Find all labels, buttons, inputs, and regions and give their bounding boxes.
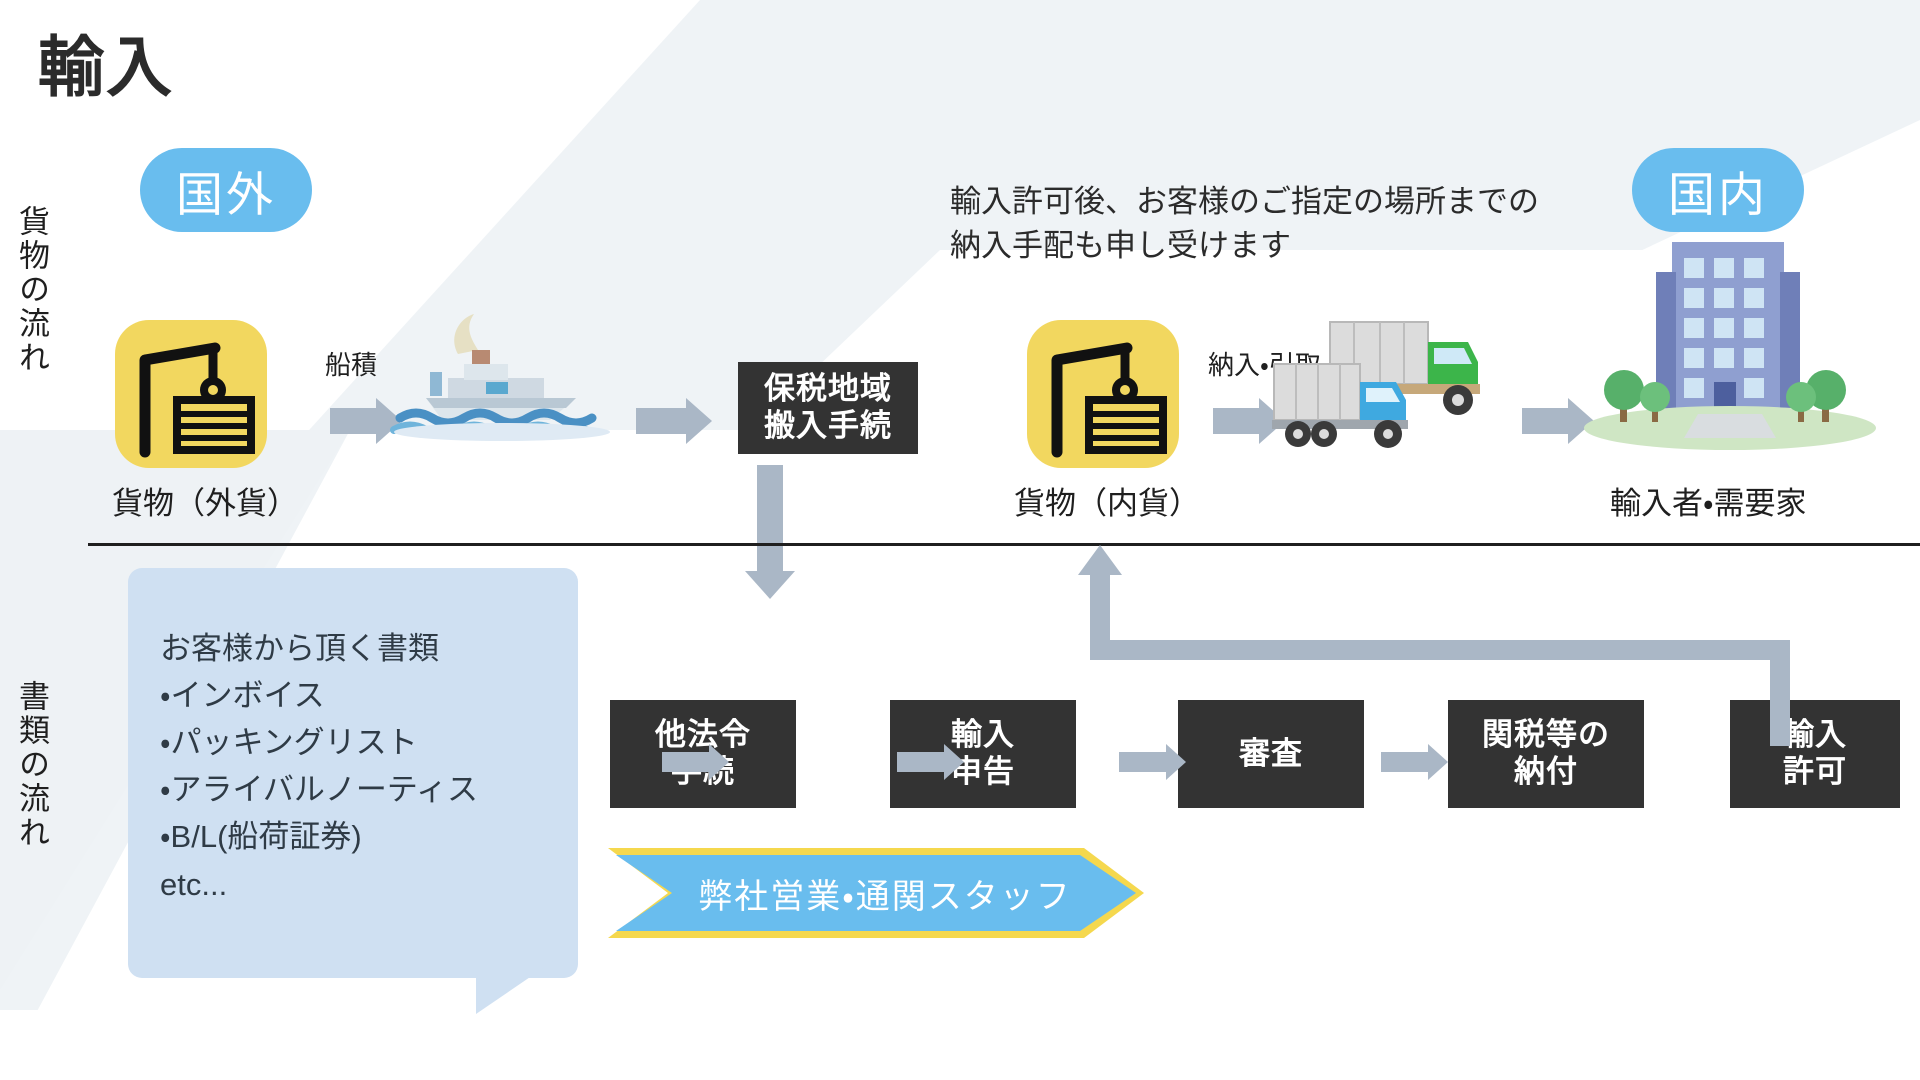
label-shipping: 船積	[325, 345, 377, 382]
lane-label-cargo: 貨物の流れ	[16, 205, 47, 375]
region-badge-foreign: 国外	[140, 148, 312, 232]
delivery-trucks-icon	[1272, 300, 1522, 465]
caption-domestic-cargo: 貨物（内貨）	[1014, 478, 1200, 523]
customer-documents-text: お客様から頂く書類 ・インボイス ・パッキングリスト ・アライバルノーティス ・…	[160, 625, 580, 908]
process-box-duty-payment: 関税等の 納付	[1448, 700, 1644, 808]
region-badge-domestic: 国内	[1632, 148, 1804, 232]
arrow-step-3-to-4	[1119, 752, 1167, 772]
arrow-to-bonded-area	[636, 408, 688, 434]
arrow-step-2-to-3	[897, 752, 945, 772]
arrow-to-ship	[330, 408, 378, 434]
office-building-icon	[1580, 232, 1880, 467]
arrow-bonded-to-documents	[757, 465, 783, 573]
page-title: 輸入	[38, 14, 174, 110]
feedback-arrow-head	[1078, 545, 1122, 575]
staff-banner: 弊社営業・通関スタッフ	[616, 855, 1136, 931]
crane-icon	[1027, 320, 1179, 468]
caption-importer: 輸入者・需要家	[1610, 478, 1807, 523]
cargo-ship-icon	[390, 292, 620, 447]
lane-divider	[88, 543, 1920, 546]
arrow-step-4-to-5	[1381, 752, 1429, 772]
process-box-bonded-area: 保税地域 搬入手続	[738, 362, 918, 454]
staff-banner-label: 弊社営業・通関スタッフ	[680, 869, 1072, 918]
process-box-examination: 審査	[1178, 700, 1364, 808]
customer-documents-bubble-tail	[476, 958, 558, 1014]
arrow-to-importer	[1522, 408, 1570, 434]
process-box-import-permit: 輸入 許可	[1730, 700, 1900, 808]
delivery-note-text: 輸入許可後、お客様のご指定の場所までの 納入手配も申し受けます	[950, 180, 1640, 268]
feedback-arrow-segment-horizontal	[1090, 640, 1790, 660]
feedback-arrow-segment-left	[1090, 570, 1110, 650]
lane-label-documents: 書類の流れ	[16, 680, 47, 850]
arrow-to-trucks	[1213, 408, 1261, 434]
crane-icon	[115, 320, 267, 468]
arrow-step-1-to-2	[662, 752, 710, 772]
import-flow-diagram: 輸入 貨物の流れ 書類の流れ 国外 国内 輸入許可後、お客様のご指定の場所までの…	[0, 0, 1920, 1080]
caption-foreign-cargo: 貨物（外貨）	[112, 478, 298, 523]
